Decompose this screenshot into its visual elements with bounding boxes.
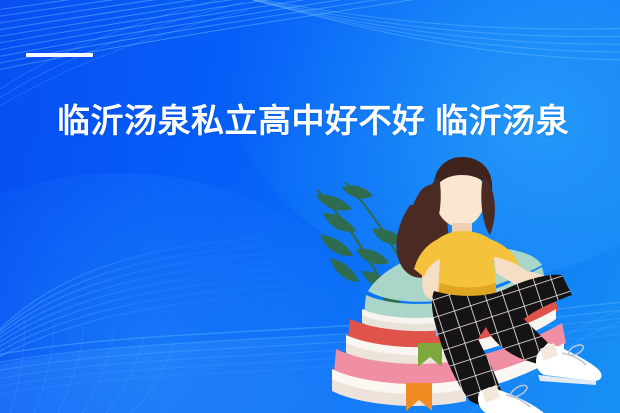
- promo-banner: 临沂汤泉私立高中好不好 临沂汤泉: [0, 0, 620, 413]
- banner-title: 临沂汤泉私立高中好不好 临沂汤泉: [57, 100, 557, 141]
- orange-bookmark: [406, 383, 432, 411]
- illustration-girl-sitting-on-books: [310, 143, 620, 413]
- accent-rule: [26, 53, 93, 57]
- hair-side-right: [481, 177, 495, 235]
- sneaker-upper: [536, 343, 601, 385]
